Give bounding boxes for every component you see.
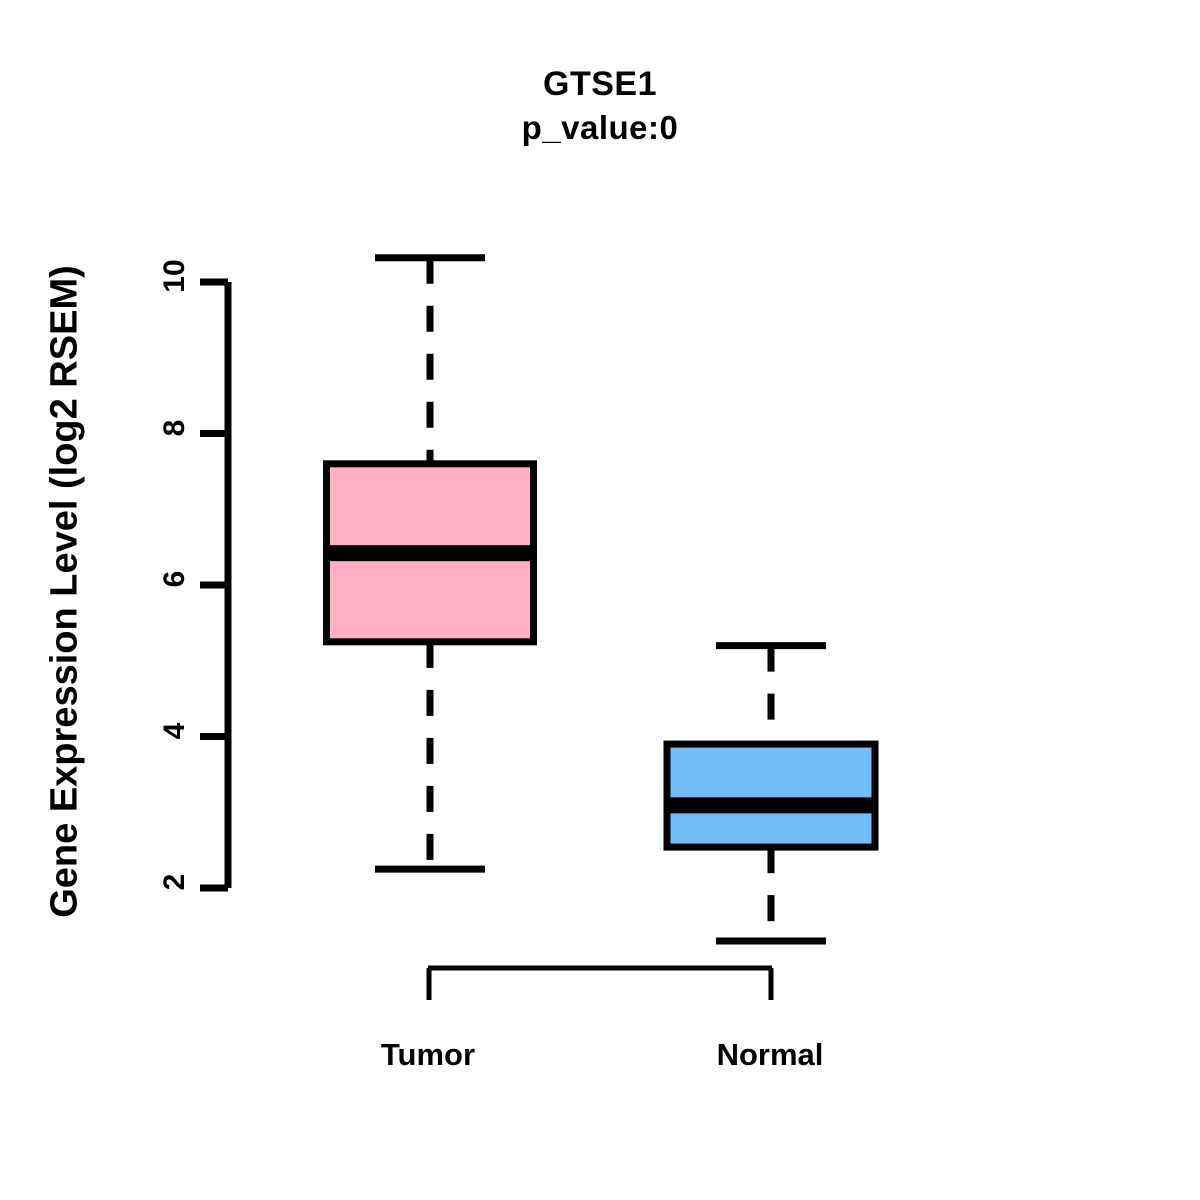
box-normal[interactable]: [667, 646, 875, 941]
normal-iqr-box[interactable]: [667, 744, 875, 847]
boxplot-figure: GTSE1 p_value:0 Gene Expression Level (l…: [0, 0, 1200, 1200]
y-axis: [200, 282, 228, 888]
x-axis: [428, 968, 772, 1000]
box-tumor[interactable]: [327, 258, 534, 869]
plot-canvas: [0, 0, 1200, 1200]
